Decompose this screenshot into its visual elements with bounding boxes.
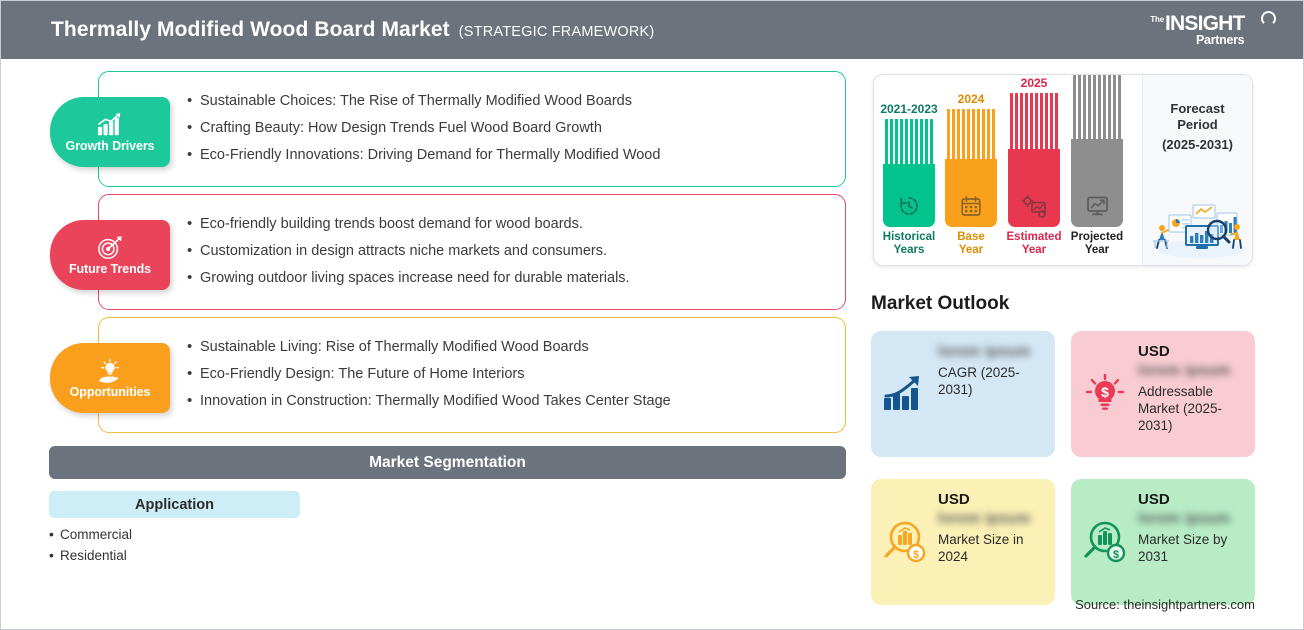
bar-shape — [1071, 75, 1123, 227]
page-title: Thermally Modified Wood Board Market — [51, 18, 450, 42]
outlook-card-market-size-2024[interactable]: $ USD lorem ipsum Market Size in 2024 — [871, 479, 1055, 605]
svg-text:$: $ — [913, 549, 919, 561]
section-future-trends: Eco-friendly building trends boost deman… — [98, 194, 846, 310]
market-segmentation-header: Market Segmentation — [49, 446, 846, 479]
outlook-card-addressable-market[interactable]: $ USD lorem ipsum Addressable Market (20… — [1071, 331, 1255, 457]
card-currency-label: USD — [1138, 343, 1245, 361]
list-item: Eco-friendly building trends boost deman… — [187, 216, 845, 233]
list-item: Customization in design attracts niche m… — [187, 243, 845, 260]
badge-growth-drivers[interactable]: Growth Drivers — [50, 97, 170, 167]
segmentation-chip-application[interactable]: Application — [49, 491, 300, 518]
logo-partners-text: Partners — [1196, 33, 1244, 47]
bar-shape — [945, 109, 997, 227]
card-currency-label: USD — [1138, 491, 1245, 509]
timeline-bar-estimated: 2025 EstimatedYear — [1007, 76, 1061, 257]
hand-lightbulb-icon — [95, 358, 125, 384]
person-left — [1157, 225, 1168, 248]
card-blurred-value: lorem ipsum — [1138, 362, 1245, 380]
section-box: Eco-friendly building trends boost deman… — [98, 194, 846, 310]
bullet-list: Sustainable Choices: The Rise of Thermal… — [187, 93, 845, 164]
card-caption: Market Size in 2024 — [938, 531, 1045, 565]
header-title-group: Thermally Modified Wood Board Market (ST… — [51, 18, 654, 42]
card-blurred-value: lorem ipsum — [938, 510, 1045, 528]
left-column: Sustainable Choices: The Rise of Thermal… — [1, 59, 863, 629]
section-growth-drivers: Sustainable Choices: The Rise of Thermal… — [98, 71, 846, 187]
card-icon-wrap — [879, 341, 931, 447]
card-currency-label: USD — [938, 491, 1045, 509]
section-box: Sustainable Choices: The Rise of Thermal… — [98, 71, 846, 187]
bar-year-label: 2024 — [958, 92, 985, 106]
forecast-line-2: Period — [1143, 117, 1252, 133]
badge-label: Opportunities — [70, 385, 151, 399]
card-blurred-value: lorem ipsum — [1138, 510, 1245, 528]
bar-stripes — [1071, 75, 1123, 139]
segmentation-chip-label: Application — [135, 497, 214, 513]
calendar-icon — [959, 194, 983, 218]
card-caption: Addressable Market (2025-2031) — [1138, 383, 1245, 434]
bar-stripes — [1008, 93, 1060, 149]
badge-future-trends[interactable]: Future Trends — [50, 220, 170, 290]
forecast-timeline-panel: 2021-2023 HistoricalYears 2024 — [873, 74, 1253, 266]
bar-shape — [883, 119, 935, 227]
logo-circle-icon — [1261, 11, 1276, 26]
card-icon-wrap: $ — [1079, 489, 1131, 595]
infographic-page: Thermally Modified Wood Board Market (ST… — [0, 0, 1304, 630]
badge-label: Growth Drivers — [66, 139, 155, 153]
badge-opportunities[interactable]: Opportunities — [50, 343, 170, 413]
bar-year-label: 2021-2023 — [880, 102, 937, 116]
bar-caption: HistoricalYears — [883, 231, 935, 257]
lightbulb-dollar-icon: $ — [1083, 372, 1127, 416]
svg-text:$: $ — [1101, 384, 1109, 400]
outlook-card-market-size-2031[interactable]: $ USD lorem ipsum Market Size by 2031 — [1071, 479, 1255, 605]
gear-chart-icon — [1021, 194, 1047, 218]
timeline-bars-area: 2021-2023 HistoricalYears 2024 — [874, 75, 1142, 265]
outlook-card-cagr[interactable]: lorem ipsum CAGR (2025-2031) — [871, 331, 1055, 457]
magnifier-bars-dollar-icon: $ — [881, 519, 929, 565]
list-item: Sustainable Choices: The Rise of Thermal… — [187, 93, 845, 110]
card-body: USD lorem ipsum Market Size in 2024 — [938, 489, 1045, 595]
card-body: lorem ipsum CAGR (2025-2031) — [938, 341, 1045, 447]
magnifier-bars-dollar-icon: $ — [1081, 519, 1129, 565]
list-item: Commercial — [49, 527, 132, 543]
page-subtitle: (STRATEGIC FRAMEWORK) — [459, 24, 655, 40]
card-caption: Market Size by 2031 — [1138, 531, 1245, 565]
timeline-bar-historical: 2021-2023 HistoricalYears — [882, 102, 936, 257]
card-caption: CAGR (2025-2031) — [938, 364, 1045, 398]
bar-caption: EstimatedYear — [1007, 231, 1062, 257]
bar-chart-arrow-up-icon — [882, 374, 928, 414]
clock-history-icon — [897, 194, 921, 218]
market-segmentation-label: Market Segmentation — [369, 454, 526, 472]
svg-text:$: $ — [1113, 549, 1119, 561]
insight-partners-logo: The INSIGHT Partners — [1148, 10, 1278, 52]
bullet-list: Sustainable Living: Rise of Thermally Mo… — [187, 339, 845, 410]
bar-year-label: 2025 — [1021, 76, 1048, 90]
bar-caption: ProjectedYear — [1071, 231, 1123, 257]
logo-the-text: The — [1148, 16, 1164, 23]
target-dartboard-icon — [95, 235, 125, 261]
forecast-line-1: Forecast — [1143, 101, 1252, 117]
list-item: Eco-Friendly Innovations: Driving Demand… — [187, 147, 845, 164]
card-body: USD lorem ipsum Addressable Market (2025… — [1138, 341, 1245, 447]
page-header: Thermally Modified Wood Board Market (ST… — [1, 1, 1303, 59]
source-note: Source: theinsightpartners.com — [1075, 597, 1255, 612]
bar-caption: BaseYear — [957, 231, 985, 257]
card-body: USD lorem ipsum Market Size by 2031 — [1138, 489, 1245, 595]
bar-chart-growth-icon — [95, 112, 125, 138]
forecast-line-3: (2025-2031) — [1143, 137, 1252, 153]
monitor-chart-icon — [1084, 194, 1110, 218]
bar-shape — [1008, 93, 1060, 227]
list-item: Innovation in Construction: Thermally Mo… — [187, 393, 845, 410]
segmentation-item-list: Commercial Residential — [49, 527, 132, 569]
list-item: Eco-Friendly Design: The Future of Home … — [187, 366, 845, 383]
list-item: Sustainable Living: Rise of Thermally Mo… — [187, 339, 845, 356]
bar-stripes — [883, 119, 935, 164]
timeline-bar-base: 2024 BaseYear — [944, 92, 998, 257]
card-icon-wrap: $ — [1079, 341, 1131, 447]
list-item: Crafting Beauty: How Design Trends Fuel … — [187, 120, 845, 137]
section-box: Sustainable Living: Rise of Thermally Mo… — [98, 317, 846, 433]
market-outlook-title: Market Outlook — [871, 293, 1009, 315]
card-blurred-value: lorem ipsum — [938, 343, 1045, 361]
list-item: Growing outdoor living spaces increase n… — [187, 270, 845, 287]
analytics-dashboard-illustration — [1149, 197, 1249, 259]
section-opportunities: Sustainable Living: Rise of Thermally Mo… — [98, 317, 846, 433]
bar-stripes — [945, 109, 997, 159]
list-item: Residential — [49, 548, 132, 564]
forecast-period-area: Forecast Period (2025-2031) — [1142, 75, 1252, 265]
badge-label: Future Trends — [69, 262, 151, 276]
bullet-list: Eco-friendly building trends boost deman… — [187, 216, 845, 287]
timeline-bar-projected: 2031 ProjectedYear — [1070, 74, 1124, 257]
card-icon-wrap: $ — [879, 489, 931, 595]
